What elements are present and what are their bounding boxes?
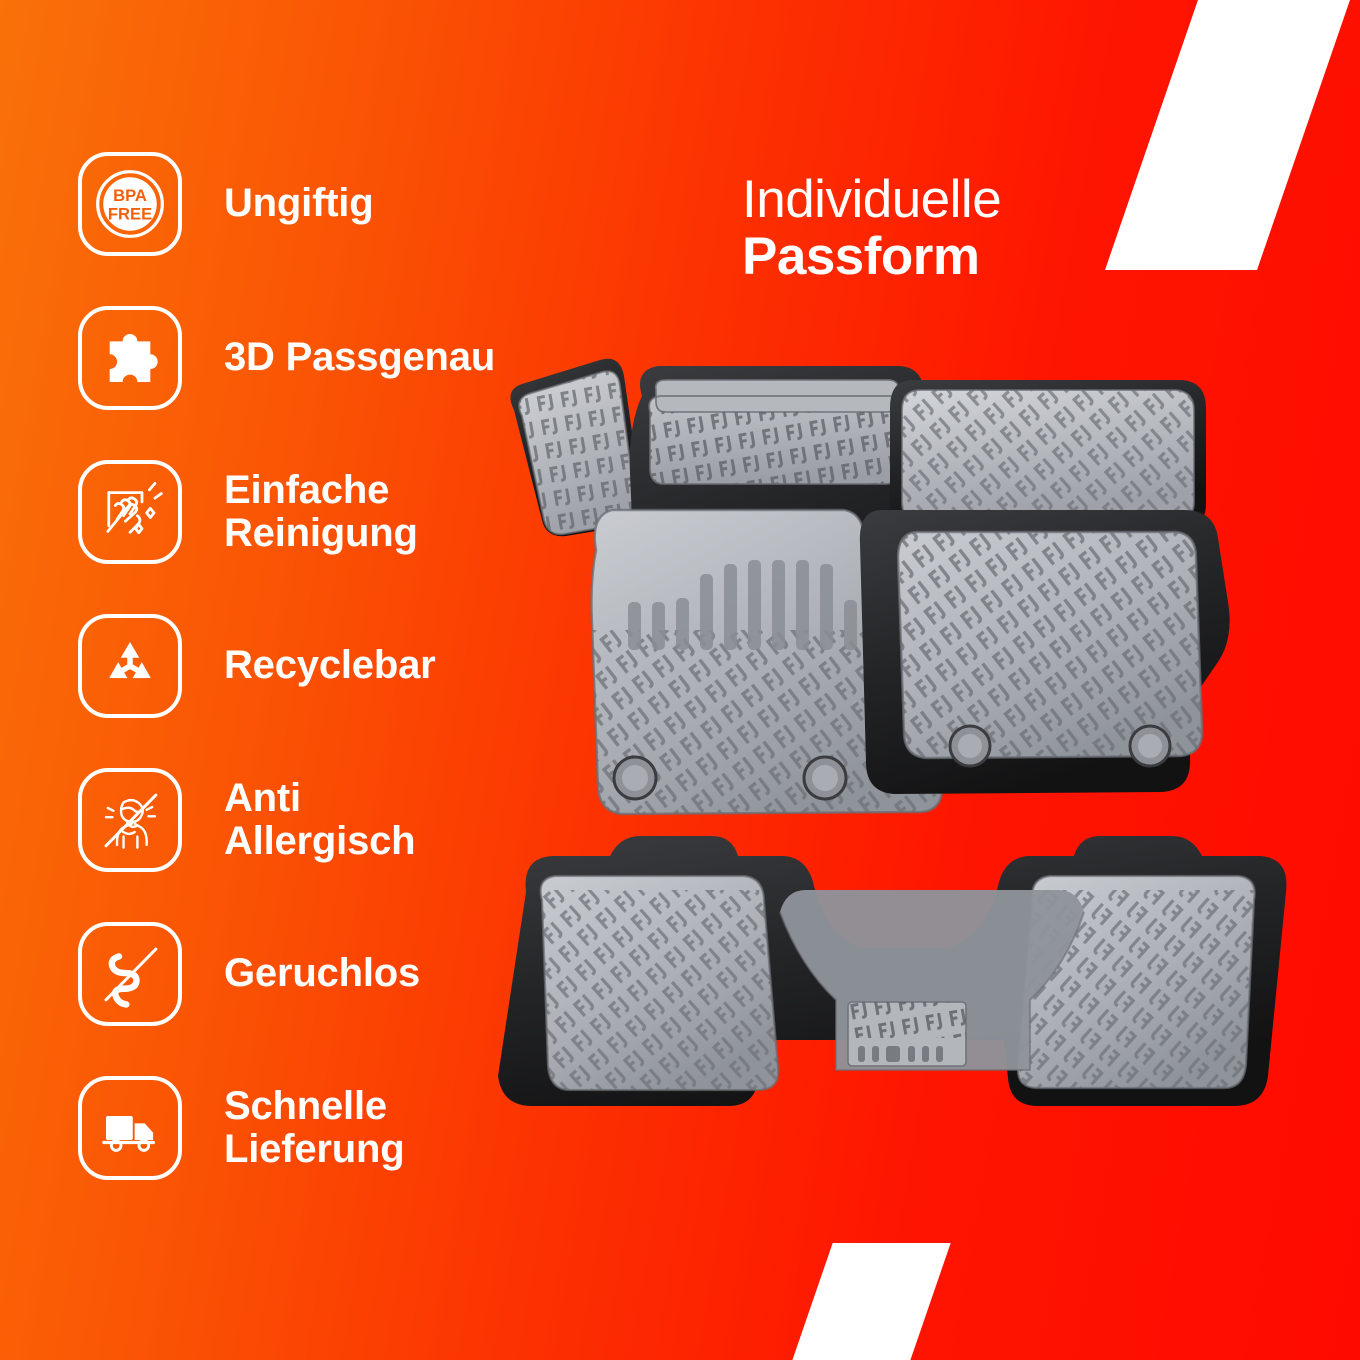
puzzle-piece-icon [78, 306, 182, 410]
bpa-badge-line-1: BPA [113, 186, 147, 205]
passenger-mat [860, 380, 1230, 794]
feature-label-recyclebar: Recyclebar [224, 644, 435, 687]
feature-item-anti-allergisch: Anti Allergisch [78, 768, 508, 872]
decorative-diagonal-stripe-bottom [790, 1243, 951, 1360]
recycle-icon [78, 614, 182, 718]
rear-mat [498, 836, 1290, 1120]
feature-label-schnelle-lieferung: Schnelle Lieferung [224, 1085, 404, 1171]
feature-item-schnelle-lieferung: Schnelle Lieferung [78, 1076, 508, 1180]
feature-item-recyclebar: Recyclebar [78, 614, 508, 718]
product-image-car-floor-mat-set [470, 340, 1300, 1170]
headline: Individuelle Passform [742, 172, 1001, 285]
feature-item-einfache-reinigung: Einfache Reinigung [78, 460, 508, 564]
headline-line-1: Individuelle [742, 172, 1001, 229]
anti-allergy-icon [78, 768, 182, 872]
decorative-diagonal-stripe-top [1105, 0, 1352, 270]
feature-item-geruchlos: Geruchlos [78, 922, 508, 1026]
odourless-icon [78, 922, 182, 1026]
feature-label-ungiftig: Ungiftig [224, 182, 373, 225]
feature-label-einfache-reinigung: Einfache Reinigung [224, 469, 418, 555]
feature-label-anti-allergisch: Anti Allergisch [224, 777, 415, 863]
passenger-mat-retention-clip-left [950, 726, 990, 766]
feature-item-ungiftig: BPA FREE Ungiftig [78, 152, 508, 256]
promo-banner: Individuelle Passform BPA FREE Ungiftig [0, 0, 1360, 1360]
bpa-badge-line-2: FREE [108, 205, 152, 224]
feature-label-geruchlos: Geruchlos [224, 952, 420, 995]
headline-line-2: Passform [742, 229, 1001, 286]
delivery-truck-icon [78, 1076, 182, 1180]
driver-mat-retention-clip-right [804, 757, 846, 799]
driver-mat-retention-clip-left [614, 757, 656, 799]
easy-cleaning-icon [78, 460, 182, 564]
bpa-free-icon: BPA FREE [78, 152, 182, 256]
passenger-mat-retention-clip-right [1130, 726, 1170, 766]
feature-list: BPA FREE Ungiftig 3D Passgenau [78, 152, 508, 1180]
feature-label-3d-passgenau: 3D Passgenau [224, 336, 495, 379]
feature-item-3d-passgenau: 3D Passgenau [78, 306, 508, 410]
